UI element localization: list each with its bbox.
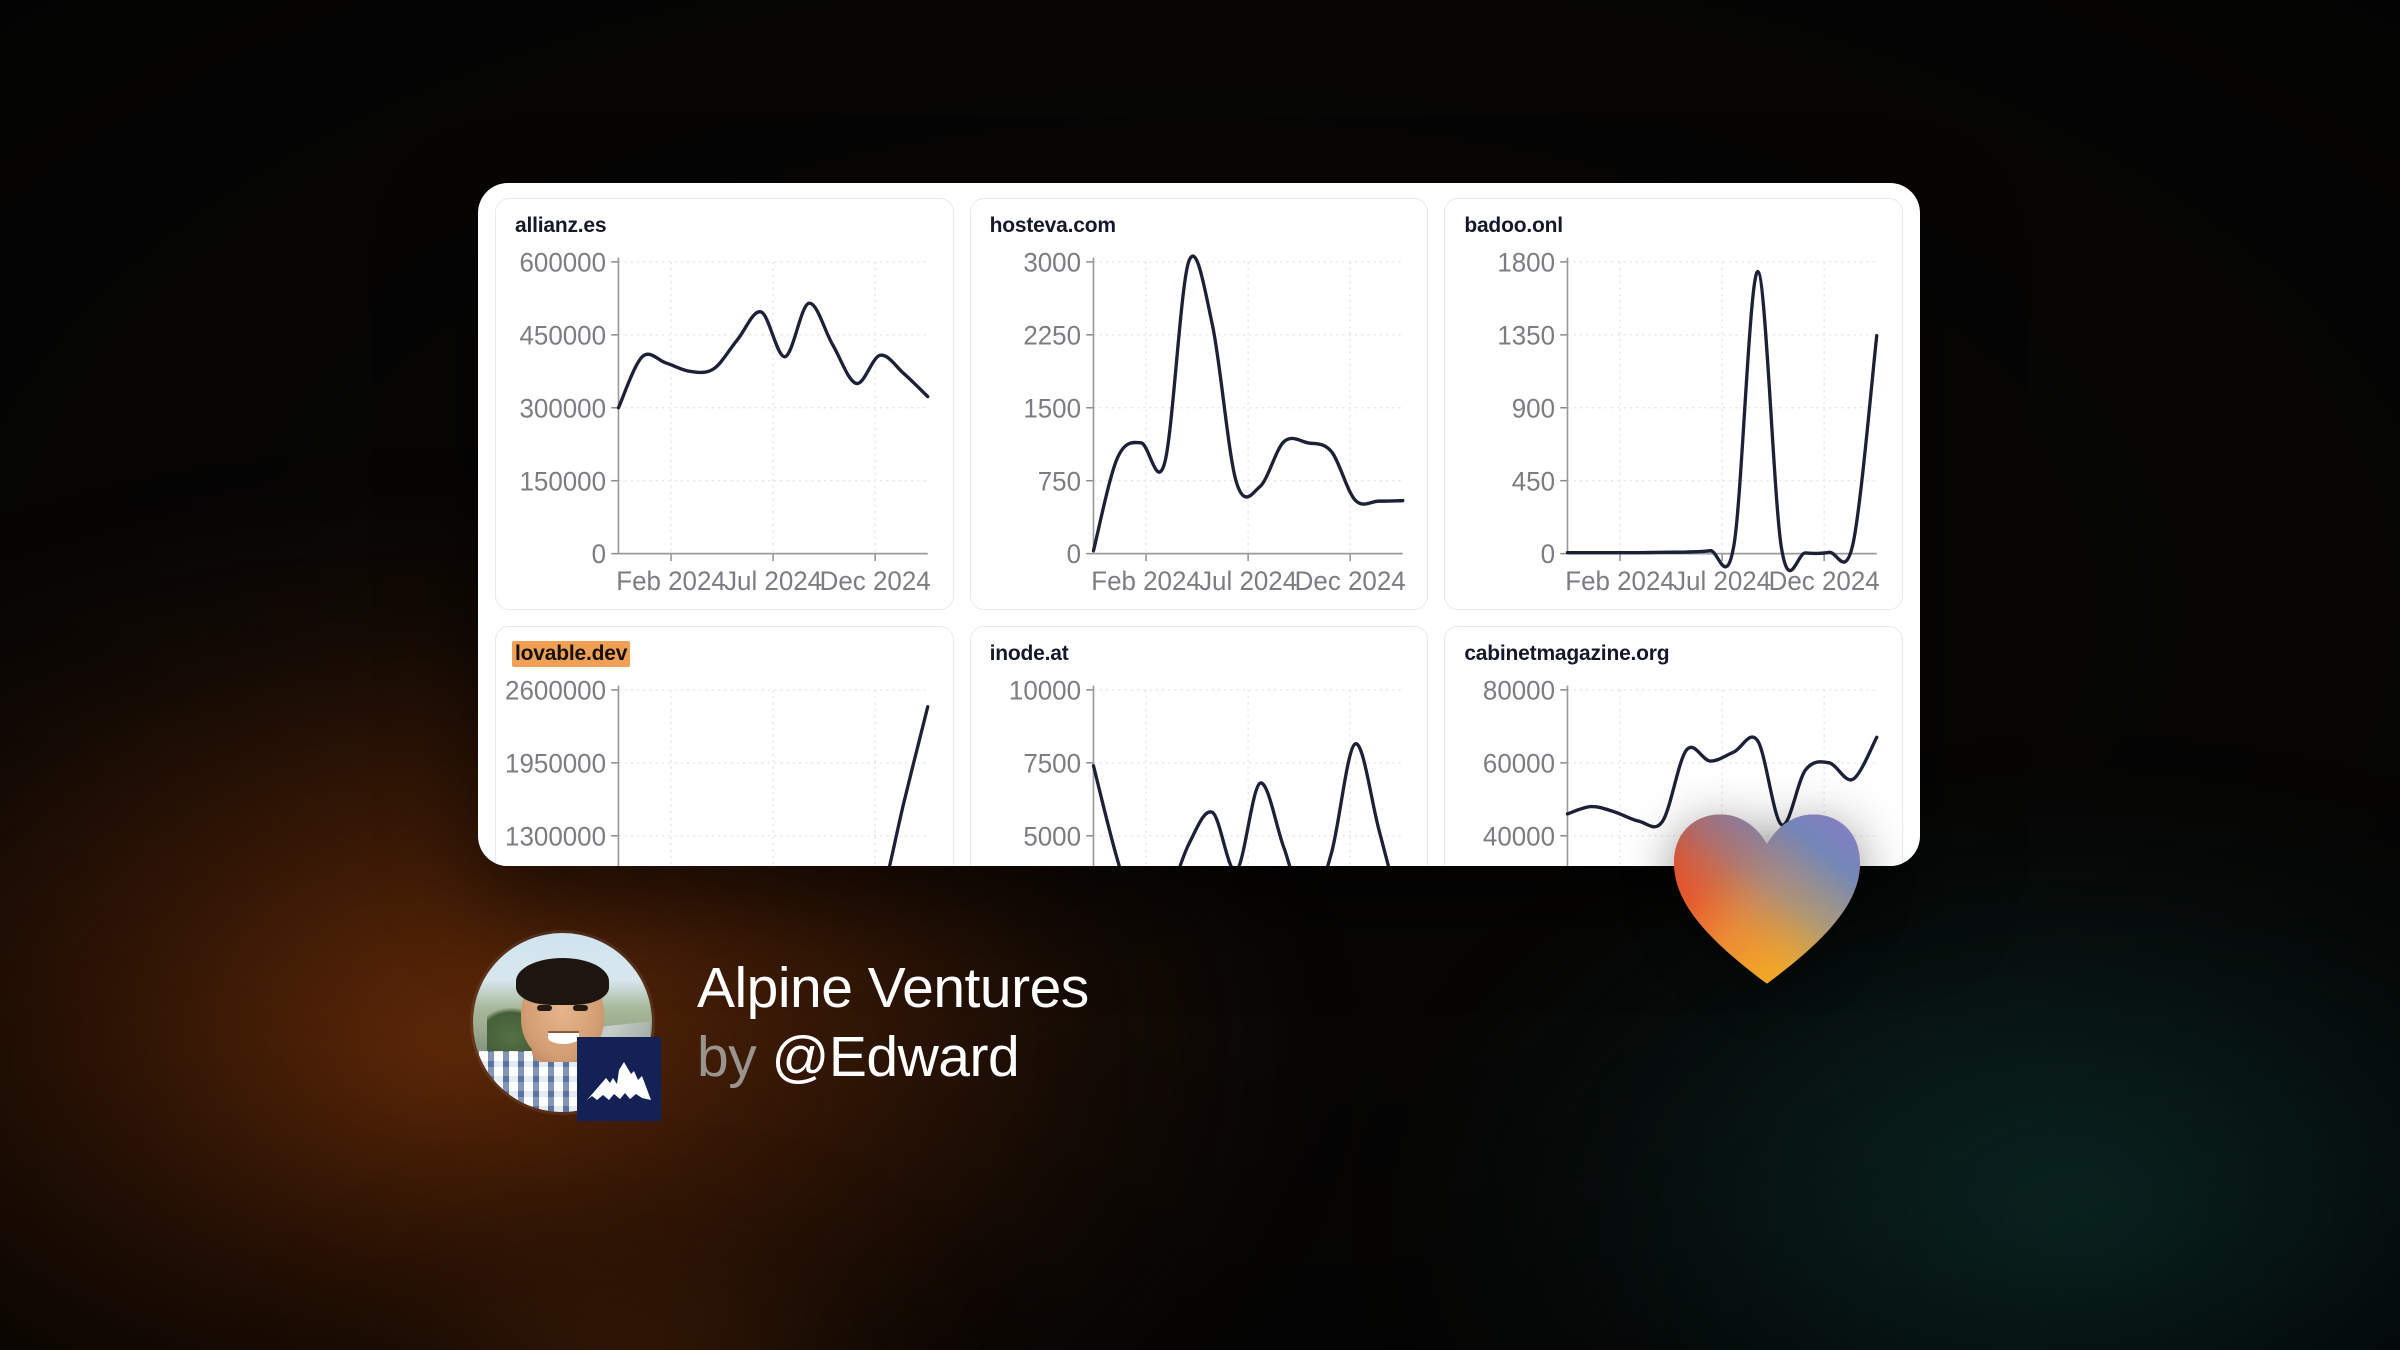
y-tick-label: 80000 [1483,675,1555,705]
y-tick-label: 1500 [1023,393,1081,423]
by-label: by [697,1025,756,1089]
y-tick-label: 0 [1066,539,1080,569]
y-tick-label: 1350 [1498,320,1556,350]
x-tick-label: Jul 2024 [1673,566,1771,596]
heart-icon[interactable] [1674,814,1860,986]
y-tick-label: 60000 [1483,748,1555,778]
author-handle[interactable]: @Edward [772,1025,1020,1089]
chart-panel-badoo[interactable]: badoo.onl045090013501800Feb 2024Jul 2024… [1444,198,1903,610]
chart-panel-allianz[interactable]: allianz.es0150000300000450000600000Feb 2… [495,198,954,610]
y-tick-label: 450000 [519,320,606,350]
y-tick-label: 2250 [1023,320,1081,350]
x-tick-label: Dec 2024 [820,566,931,596]
y-tick-label: 7500 [1023,748,1081,778]
avatar-eye-right [573,1005,587,1011]
y-tick-label: 10000 [1009,675,1081,705]
chart-panel-inode[interactable]: inode.at25005000750010000 [970,626,1429,866]
chart-panel-hosteva[interactable]: hosteva.com0750150022503000Feb 2024Jul 2… [970,198,1429,610]
avatar-eye-left [537,1005,551,1011]
identity-text: Alpine Ventures by @Edward [697,959,1089,1085]
y-tick-label: 450 [1512,466,1555,496]
chart-plot-lovable: 650000130000019500002600000 [496,675,953,866]
avatar-smile [548,1031,578,1044]
y-tick-label: 40000 [1483,821,1555,851]
chart-title-lovable: lovable.dev [512,641,630,667]
chart-title-cabinetmagazine: cabinetmagazine.org [1461,641,1672,667]
chart-plot-allianz: 0150000300000450000600000Feb 2024Jul 202… [496,247,953,609]
chart-panel-lovable[interactable]: lovable.dev650000130000019500002600000 [495,626,954,866]
x-tick-label: Feb 2024 [1091,566,1201,596]
chart-title-hosteva: hosteva.com [987,213,1119,239]
chart-title-badoo: badoo.onl [1461,213,1566,239]
y-tick-label: 300000 [519,393,606,423]
dashboard-card: allianz.es0150000300000450000600000Feb 2… [478,183,1920,866]
org-name: Alpine Ventures [697,959,1089,1017]
avatar-with-badge [470,930,655,1115]
x-tick-label: Jul 2024 [1199,566,1297,596]
avatar-hair [516,958,609,1005]
chart-plot-hosteva: 0750150022503000Feb 2024Jul 2024Dec 2024 [971,247,1428,609]
chart-plot-badoo: 045090013501800Feb 2024Jul 2024Dec 2024 [1445,247,1902,609]
y-tick-label: 750 [1037,466,1080,496]
y-tick-label: 150000 [519,466,606,496]
chart-title-inode: inode.at [987,641,1072,667]
y-tick-label: 1950000 [505,748,606,778]
chart-grid: allianz.es0150000300000450000600000Feb 2… [478,183,1920,866]
y-tick-label: 900 [1512,393,1555,423]
x-tick-label: Dec 2024 [1769,566,1880,596]
x-tick-label: Dec 2024 [1294,566,1405,596]
y-tick-label: 2600000 [505,675,606,705]
byline: by @Edward [697,1028,1089,1086]
series-line-allianz [618,303,927,408]
y-tick-label: 600000 [519,247,606,277]
y-tick-label: 1800 [1498,247,1556,277]
chart-plot-inode: 25005000750010000 [971,675,1428,866]
y-tick-label: 5000 [1023,821,1081,851]
mountain-icon [577,1037,661,1121]
y-tick-label: 0 [592,539,606,569]
x-tick-label: Feb 2024 [616,566,726,596]
footer-identity: Alpine Ventures by @Edward [470,930,1089,1115]
chart-title-allianz: allianz.es [512,213,609,239]
y-tick-label: 0 [1541,539,1555,569]
y-tick-label: 1300000 [505,821,606,851]
y-tick-label: 3000 [1023,247,1081,277]
x-tick-label: Feb 2024 [1566,566,1676,596]
x-tick-label: Jul 2024 [724,566,822,596]
